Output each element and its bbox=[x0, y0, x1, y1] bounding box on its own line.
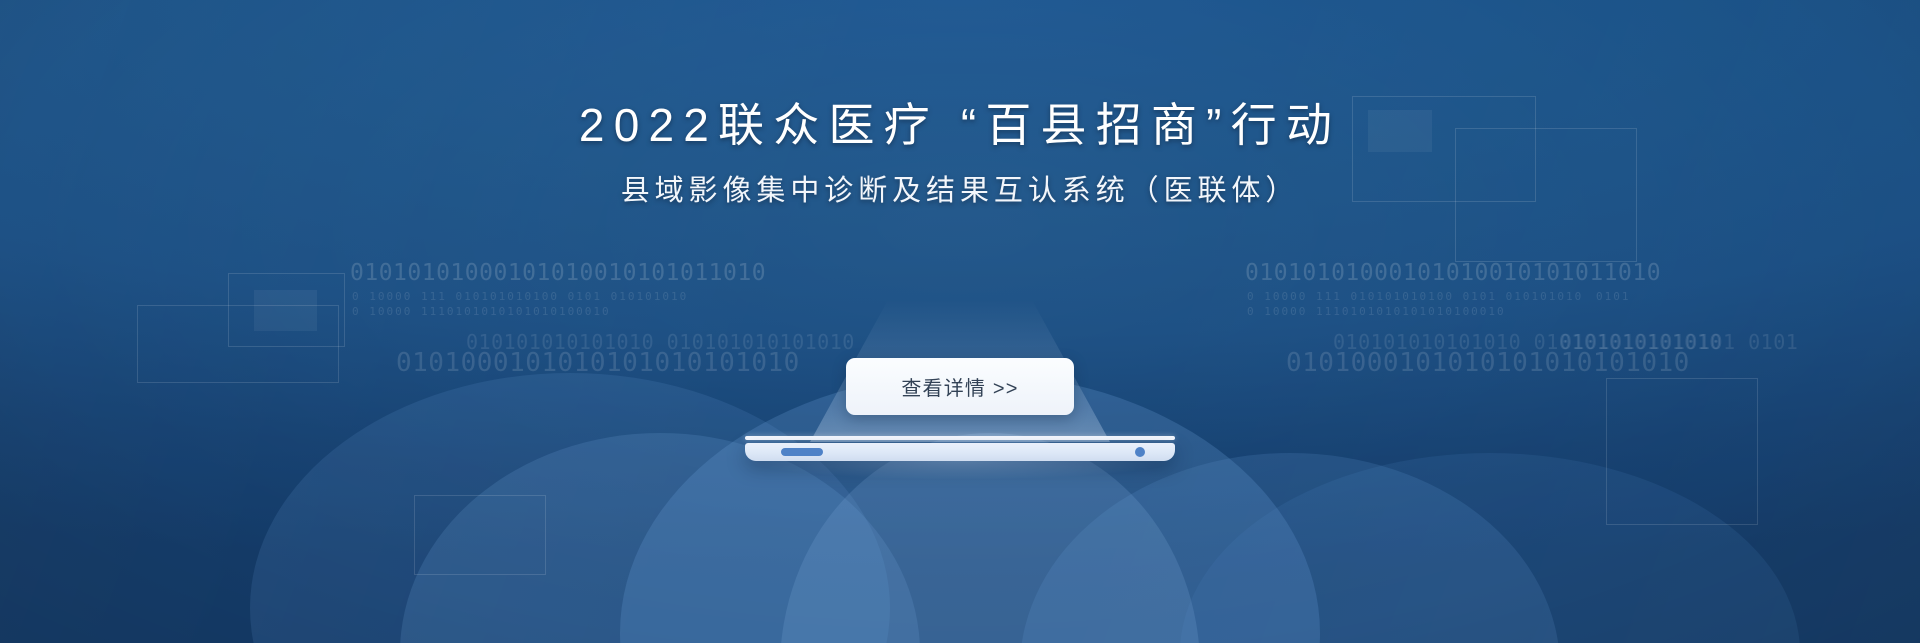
binary-text-right-3: 0 10000 1110101010101010100010 bbox=[1247, 305, 1506, 318]
binary-text-right-7: 0101 bbox=[1596, 290, 1631, 303]
binary-text-right-1: 01010101000101010010101011010 bbox=[1245, 260, 1661, 286]
binary-text-right-6: 01010101010101 0101 bbox=[1560, 330, 1798, 354]
binary-text-right-2: 0 10000 111 010101010100 0101 010101010 bbox=[1247, 290, 1583, 303]
binary-text-left-3: 0 10000 1110101010101010100010 bbox=[352, 305, 611, 318]
laptop-base-illustration bbox=[745, 436, 1175, 461]
decor-rect-bottom-left bbox=[414, 495, 546, 575]
laptop-slot-indicator bbox=[781, 448, 823, 456]
headline-block: 2022联众医疗 “百县招商”行动 县域影像集中诊断及结果互认系统（医联体） bbox=[0, 0, 1920, 211]
laptop-reflection-glow bbox=[719, 461, 1201, 487]
binary-text-left-1: 01010101000101010010101011010 bbox=[350, 260, 766, 286]
laptop-body bbox=[745, 443, 1175, 461]
decor-rect-left-filled bbox=[254, 290, 317, 331]
cta-container: 查看详情 >> bbox=[0, 358, 1920, 415]
binary-text-left-2: 0 10000 111 010101010100 0101 010101010 bbox=[352, 290, 688, 303]
banner-subtitle: 县域影像集中诊断及结果互认系统（医联体） bbox=[0, 173, 1920, 211]
laptop-lid-edge bbox=[745, 436, 1175, 440]
banner-title: 2022联众医疗 “百县招商”行动 bbox=[0, 0, 1920, 155]
view-details-button[interactable]: 查看详情 >> bbox=[846, 358, 1074, 415]
binary-text-left-4: 010101010101010 010101010101010 bbox=[466, 330, 855, 354]
promo-banner: 01010101000101010010101011010 0 10000 11… bbox=[0, 0, 1920, 643]
laptop-dot-indicator bbox=[1135, 447, 1145, 457]
binary-text-right-4: 010101010101010 010101010101010 bbox=[1333, 330, 1722, 354]
